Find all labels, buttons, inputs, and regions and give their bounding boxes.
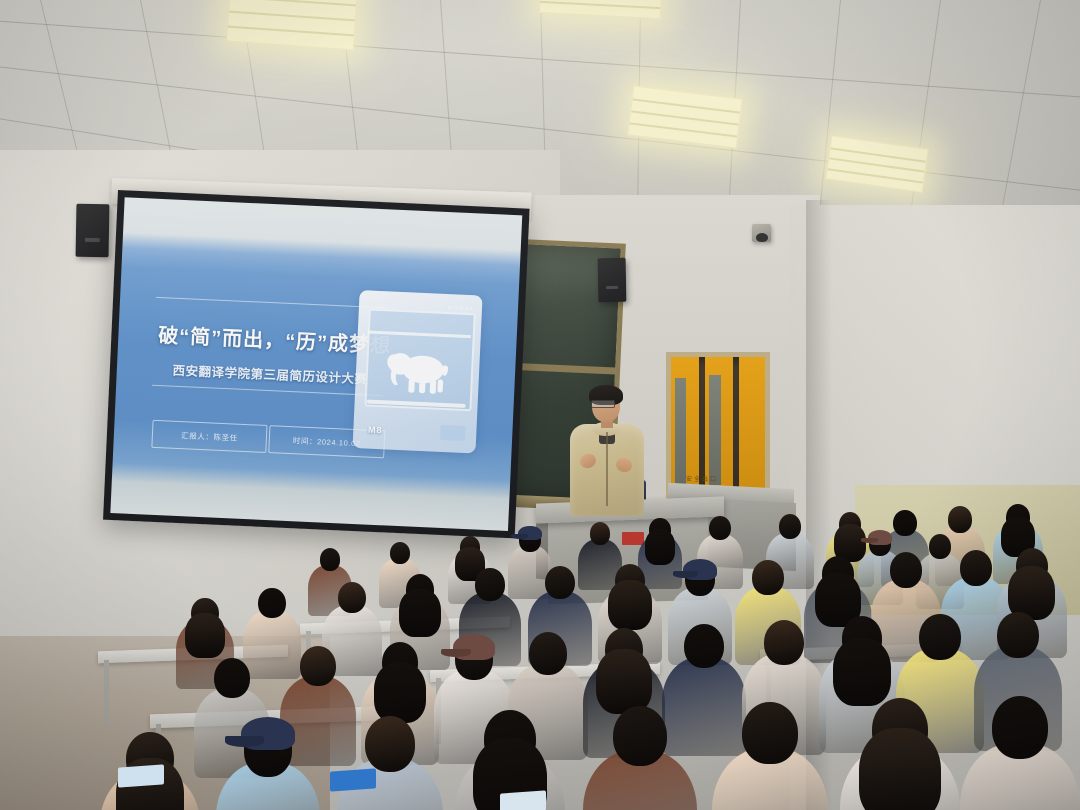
audience-member-head: [338, 582, 366, 613]
audience-member-head: [365, 716, 415, 772]
ceiling-light-4: [539, 0, 663, 19]
audience-member-head: [764, 620, 804, 665]
glasses-icon: [591, 400, 615, 408]
audience-member-long-hair: [608, 580, 651, 630]
audience-member-head: [214, 658, 250, 698]
audience-member-head: [390, 542, 410, 564]
audience-member-head: [893, 510, 916, 536]
ceiling-light-1: [226, 0, 358, 50]
audience-member-head: [919, 614, 960, 660]
notebook: [118, 764, 164, 787]
camera-lens-icon: [756, 233, 768, 242]
audience-member-head: [929, 534, 951, 559]
slide-rule-bottom: [152, 385, 383, 396]
audience-member-head: [529, 632, 567, 675]
audience-member-long-hair: [859, 728, 940, 810]
audience-member-cap-brim: [511, 534, 528, 539]
audience-member-long-hair: [596, 649, 652, 714]
audience-member-head: [742, 702, 797, 764]
audience-member-head: [752, 560, 783, 595]
audience-member-head: [997, 612, 1038, 658]
security-camera-icon: [752, 224, 771, 242]
audience-member-head: [684, 624, 723, 668]
printer-control-panel: [440, 425, 465, 440]
audience-member-head: [545, 566, 575, 599]
audience-member-head: [992, 696, 1048, 759]
audience-member-long-hair: [399, 589, 440, 637]
audience-member-long-hair: [645, 529, 675, 564]
audience-member-head: [300, 646, 336, 686]
audience-member-head: [258, 588, 285, 618]
audience-member-head: [709, 516, 731, 540]
audience-member-long-hair: [374, 662, 427, 724]
audience-member-long-hair: [185, 613, 224, 659]
audience-member-head: [320, 548, 340, 571]
audience-member-body: [662, 657, 746, 757]
3d-printer-graphic: M8 MINGDA: [352, 290, 482, 453]
audience-member-cap-brim: [673, 571, 697, 578]
audience-member-head: [613, 706, 667, 766]
ceiling-light-3: [825, 135, 928, 192]
classroom-photo: 安全出口 破“简”而出，“历”成梦想 西安翻译学院第三届简历设计大赛 汇报人：陈…: [0, 0, 1080, 810]
audience-member-head: [475, 568, 504, 601]
audience-member-head: [948, 506, 972, 533]
audience-member-head: [960, 550, 993, 586]
desk-leg: [104, 660, 109, 726]
wall-speaker-left: [76, 204, 110, 258]
audience-member-head: [590, 522, 610, 545]
printer-model-label: M8: [368, 425, 383, 436]
slide-rule-top: [156, 297, 387, 308]
audience-member-long-hair: [833, 638, 892, 706]
elephant-model-icon: [379, 336, 459, 409]
slide-presenter-chip: 汇报人：陈圣任: [151, 420, 268, 453]
audience-member-body: [243, 610, 301, 679]
audience: [0, 470, 1080, 810]
audience-member-head: [890, 552, 923, 588]
notebook: [500, 790, 546, 810]
audience-member-head: [779, 514, 801, 539]
wall-speaker-right: [598, 258, 627, 302]
notebook: [330, 768, 376, 791]
printer-brand-label: MINGDA: [447, 305, 473, 312]
